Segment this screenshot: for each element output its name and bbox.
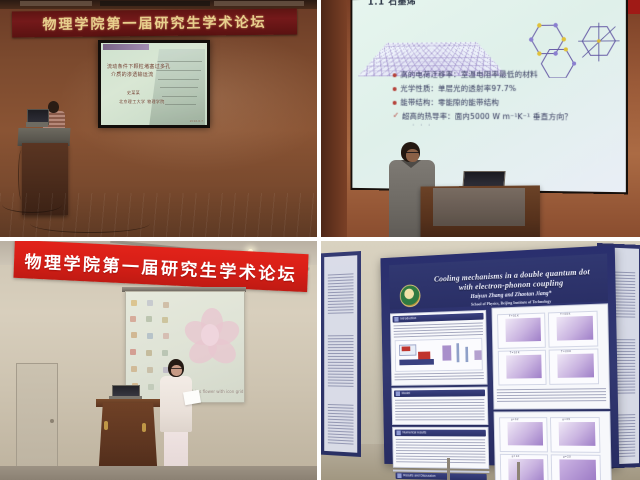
- slide-affiliation: 北京理工大学 物理学院: [119, 99, 165, 105]
- bullet-dot-icon: [393, 73, 397, 77]
- cable: [18, 150, 25, 200]
- bullet-dot-icon: [393, 87, 397, 91]
- ceiling-strip: [214, 1, 304, 6]
- section-bullet-icon: [396, 391, 400, 396]
- poster-section-results-discussion: Results and Discussion: [393, 470, 489, 473]
- event-banner-text: 物理学院第一届研究生学术论坛: [24, 247, 298, 285]
- slide-bullet-list: 高的电荷迁移率：室温电阻率最低的材料 光学性质：单层光的透射率97.7% 能带结…: [393, 69, 620, 127]
- cable: [2, 196, 62, 213]
- figure-panel: T = 0.1 K: [497, 313, 546, 349]
- figure-panel: g = 0.2: [499, 417, 548, 452]
- poster-section-introduction: Introduction: [390, 310, 488, 386]
- podium-fitting: [142, 423, 146, 432]
- easel-leg: [447, 458, 450, 480]
- poster-figure-grid-top: T = 0.1 K T = 0.5 K T = 1.0 K T = 2.0 K: [492, 303, 611, 409]
- photo-top-right: 1.1 石墨烯: [321, 0, 640, 237]
- slide-content: 流动条件下颗粒堵塞过多孔 介质的渗透输运流 史某某 北京理工大学 物理学院 20…: [101, 43, 207, 125]
- event-banner: 物理学院第一届研究生学术论坛: [12, 9, 297, 38]
- bullet-item: 光学性质：单层光的透射率97.7%: [393, 84, 620, 94]
- photo-bottom-right: Cooling mechanisms in a double quantum d…: [321, 241, 640, 480]
- speaker-face: [406, 149, 419, 162]
- projection-screen: 流动条件下颗粒堵塞过多孔 介质的渗透输运流 史某某 北京理工大学 物理学院 20…: [98, 40, 210, 128]
- figure-panel: T = 2.0 K: [549, 348, 599, 384]
- section-bullet-icon: [396, 431, 400, 436]
- slide-title: 1.1 石墨烯: [368, 0, 417, 8]
- photo-top-left: 物理学院第一届研究生学术论坛 流动条件下颗粒堵塞过多孔 介质的渗透输运流 史某某…: [0, 0, 317, 237]
- poster-left-column: Introduction: [390, 310, 489, 456]
- podium-fitting: [104, 421, 108, 430]
- poster-header: Cooling mechanisms in a double quantum d…: [389, 254, 608, 310]
- bullet-text: 光学性质：单层光的透射率97.7%: [400, 84, 516, 94]
- ceiling-strip: [100, 1, 210, 6]
- section-header: Numerical results: [395, 430, 486, 437]
- cable: [30, 214, 150, 233]
- section-header: Model: [394, 389, 485, 397]
- wall-side-panel: [321, 0, 347, 237]
- slide-flower-graphic: [184, 308, 240, 364]
- checkmark-icon: ✓: [393, 112, 399, 120]
- podium-front-panel: [433, 188, 525, 226]
- section-title: Numerical results: [402, 430, 426, 434]
- figure-panel: g = 0.5: [550, 417, 600, 453]
- speaker-head: [48, 101, 59, 113]
- figure-panel: g = 2.0: [551, 454, 601, 480]
- slide-title-line1: 流动条件下颗粒堵塞过多孔: [107, 63, 171, 70]
- ceiling-strip: [20, 1, 92, 6]
- event-banner-text: 物理学院第一届研究生学术论坛: [42, 12, 266, 34]
- slide-title-line2: 介质的渗透输运流: [111, 71, 153, 78]
- door-knob-icon: [50, 419, 54, 423]
- bullet-item: 能带结构：零能隙的能带结构: [393, 98, 620, 109]
- poster-right-column: T = 0.1 K T = 0.5 K T = 1.0 K T = 2.0 K: [492, 303, 612, 459]
- university-logo-icon: [400, 284, 421, 307]
- slide-presenter: 史某某: [127, 90, 140, 96]
- section-title: Introduction: [400, 316, 416, 320]
- section-title: Results and Discussion: [403, 473, 435, 477]
- poster-board: Cooling mechanisms in a double quantum d…: [380, 245, 619, 467]
- figure-schematic: [395, 338, 483, 372]
- poster-section-model: Model: [391, 387, 488, 425]
- laptop-base: [26, 122, 48, 127]
- slide-date: 2016.6.7: [190, 119, 203, 123]
- adjacent-poster-left: [321, 251, 361, 457]
- bullet-text: 高的电荷迁移率：室温电阻率最低的材料: [400, 70, 537, 81]
- floor: [0, 466, 317, 480]
- section-header: Results and Discussion: [396, 472, 487, 480]
- photo-collage: 物理学院第一届研究生学术论坛 流动条件下颗粒堵塞过多孔 介质的渗透输运流 史某某…: [0, 0, 640, 480]
- glasses-icon: [406, 152, 419, 155]
- photo-bottom-left: 物理学院第一届研究生学术论坛: [0, 241, 317, 480]
- bullet-item: 高的电荷迁移率：室温电阻率最低的材料: [393, 69, 620, 80]
- section-bullet-icon: [397, 473, 401, 478]
- figure-panel: T = 0.5 K: [548, 311, 598, 348]
- slide-ellipsis: · · ·: [412, 122, 432, 129]
- section-title: Model: [402, 391, 410, 395]
- speaker-notes-paper: [183, 390, 201, 406]
- slide-header-bar: [103, 44, 149, 50]
- easel-leg: [517, 462, 520, 480]
- poster-section-numerical-results: Numerical results: [392, 427, 489, 469]
- figure-panel: g = 1.0: [500, 454, 549, 480]
- section-bullet-icon: [394, 317, 398, 322]
- poster-figure-grid-bottom: g = 0.2 g = 0.5 g = 1.0 g = 2.0: [494, 411, 613, 480]
- glasses-icon: [171, 368, 182, 371]
- bullet-dot-icon: [393, 101, 397, 105]
- section-header: Introduction: [393, 313, 484, 323]
- slide-photo-stairs: [149, 49, 205, 125]
- bullet-text: 能带结构：零能隙的能带结构: [400, 98, 499, 108]
- figure-panel: T = 1.0 K: [498, 350, 547, 386]
